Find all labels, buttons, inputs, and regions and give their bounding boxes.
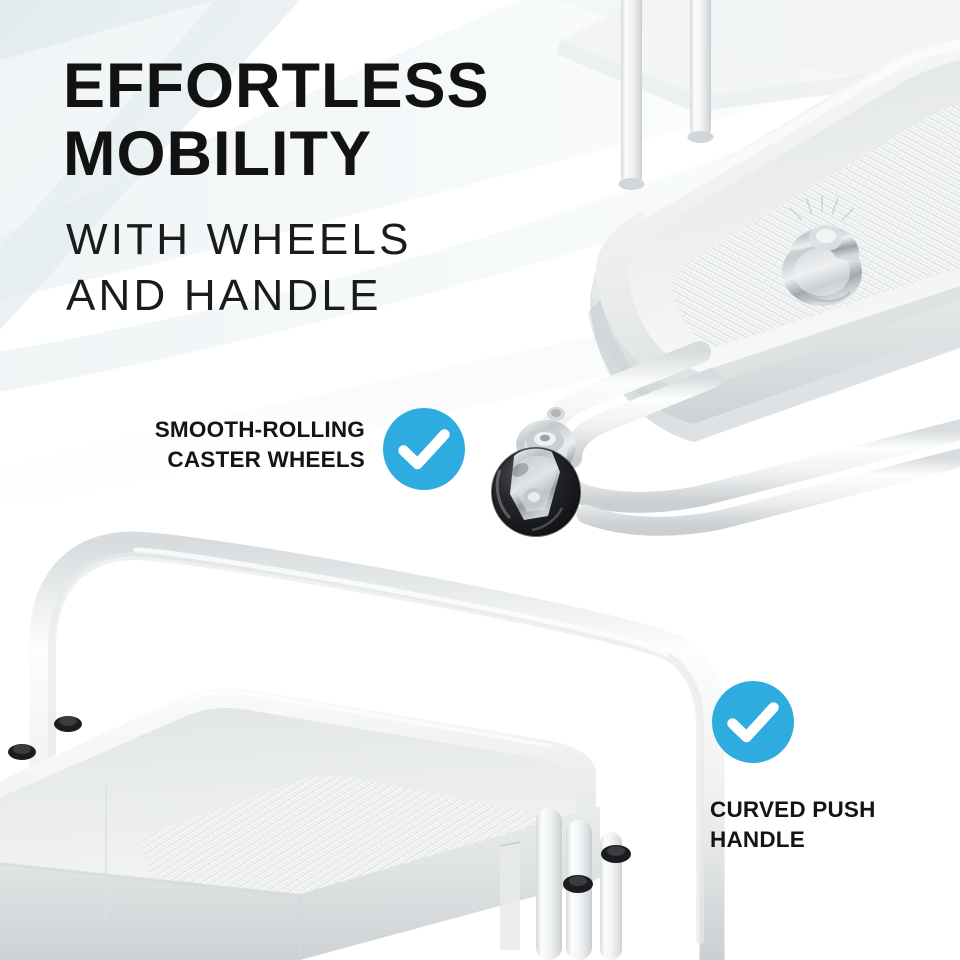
loose-caster-wheel: [782, 195, 862, 306]
check-circle-icon: [712, 681, 794, 763]
cart-with-push-handle-group: [0, 544, 712, 960]
rubber-grommet-caps: [8, 716, 631, 893]
mounted-caster-wheel-group: [492, 352, 960, 536]
feature-label-smooth-rolling-caster-wheels: SMOOTH-ROLLING CASTER WHEELS: [40, 415, 365, 475]
page-title: EFFORTLESS MOBILITY: [63, 52, 623, 188]
feature-label-curved-push-handle: CURVED PUSH HANDLE: [710, 795, 950, 855]
check-circle-icon: [383, 408, 465, 490]
page-subtitle: WITH WHEELS AND HANDLE: [66, 212, 626, 324]
marketing-infographic: EFFORTLESS MOBILITY WITH WHEELS AND HAND…: [0, 0, 960, 960]
